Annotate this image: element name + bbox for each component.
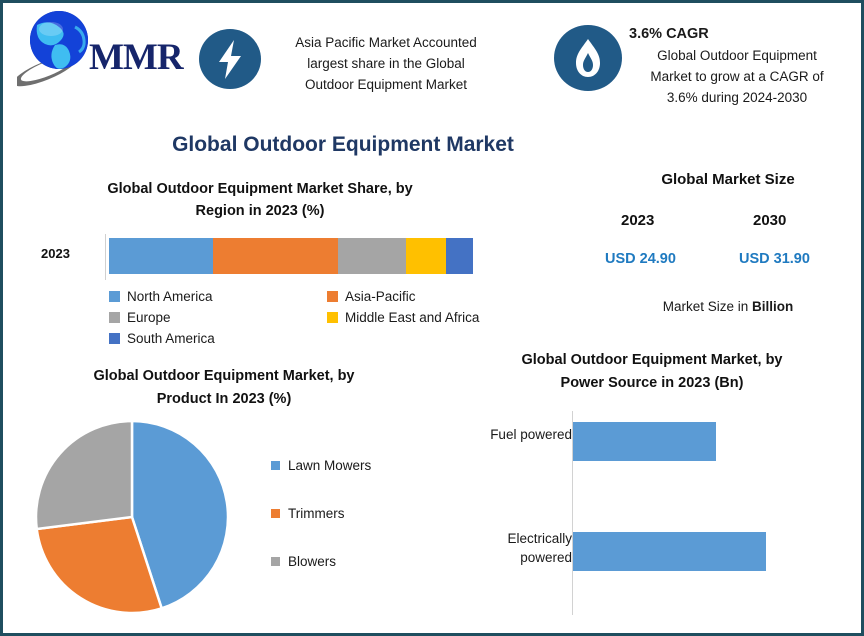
header: MMR Asia Pacific Market Accounted larges…	[3, 3, 861, 115]
header-right-line-3: 3.6% during 2024-2030	[621, 87, 853, 108]
legend-item-south-america: South America	[109, 331, 327, 346]
logo-text: MMR	[89, 36, 183, 79]
stack-segment	[406, 238, 446, 274]
lightning-bolt-icon	[199, 29, 261, 89]
header-right-text: 3.6% CAGR Global Outdoor Equipment Marke…	[621, 24, 853, 108]
legend-swatch-icon	[271, 509, 280, 518]
legend-label: Middle East and Africa	[345, 310, 479, 325]
pie-plot	[32, 417, 232, 617]
market-size-footnote: Market Size in Billion	[599, 299, 857, 314]
legend-swatch-icon	[109, 291, 120, 302]
market-size-value-2030: USD 31.90	[739, 251, 810, 267]
market-size-years: 2023 2030	[599, 212, 857, 234]
market-size-value-2023: USD 24.90	[605, 251, 676, 267]
header-left-line-1: Asia Pacific Market Accounted	[259, 32, 513, 53]
region-legend: North America Asia-Pacific Europe Middle…	[109, 286, 579, 349]
product-legend: Lawn Mowers Trimmers Blowers	[271, 441, 371, 585]
stack-segment	[109, 238, 213, 274]
market-size-footnote-unit: Billion	[752, 299, 793, 314]
region-chart-title: Global Outdoor Equipment Market Share, b…	[25, 178, 495, 222]
infographic-canvas: MMR Asia Pacific Market Accounted larges…	[0, 0, 864, 636]
legend-row: North America Asia-Pacific	[109, 286, 579, 307]
power-chart-plot: Fuel powered Electrically powered	[443, 411, 861, 617]
legend-item-blowers: Blowers	[271, 537, 371, 585]
legend-label: Trimmers	[288, 506, 345, 521]
header-left-line-3: Outdoor Equipment Market	[259, 74, 513, 95]
legend-swatch-icon	[109, 312, 120, 323]
legend-row: South America	[109, 328, 579, 349]
pie-slice	[36, 421, 132, 529]
region-chart-title-line-1: Global Outdoor Equipment Market Share, b…	[25, 178, 495, 200]
region-category-label: 2023	[41, 246, 70, 261]
legend-item-lawn-mowers: Lawn Mowers	[271, 441, 371, 489]
product-share-chart: Global Outdoor Equipment Market, by Prod…	[9, 365, 449, 411]
market-size-year-2030: 2030	[753, 212, 786, 229]
legend-item-north-america: North America	[109, 289, 327, 304]
page-title: Global Outdoor Equipment Market	[3, 133, 683, 157]
market-size-panel: Global Market Size 2023 2030 USD 24.90 U…	[599, 171, 857, 314]
legend-item-middle-east-and-africa: Middle East and Africa	[327, 310, 479, 325]
stack-segment	[213, 238, 339, 274]
region-chart-plot: 2023	[13, 234, 513, 280]
legend-label: South America	[127, 331, 215, 346]
region-axis-line	[105, 234, 106, 280]
power-category-label: Electrically powered	[454, 529, 572, 567]
legend-label: Blowers	[288, 554, 336, 569]
market-size-title: Global Market Size	[599, 171, 857, 188]
legend-label: Lawn Mowers	[288, 458, 371, 473]
power-bar-fuel	[573, 422, 716, 461]
cagr-value: 3.6% CAGR	[621, 24, 853, 45]
product-chart-title-line-2: Product In 2023 (%)	[9, 388, 439, 411]
power-category-label: Fuel powered	[454, 425, 572, 444]
flame-icon	[554, 25, 622, 91]
lightning-bolt-badge	[199, 29, 261, 89]
power-source-chart: Global Outdoor Equipment Market, by Powe…	[443, 349, 861, 395]
power-category-label-line-2: powered	[454, 548, 572, 567]
pie-chart-icon	[32, 417, 232, 617]
legend-label: Asia-Pacific	[345, 289, 416, 304]
mmr-logo: MMR	[17, 9, 197, 91]
legend-item-asia-pacific: Asia-Pacific	[327, 289, 416, 304]
power-chart-title-line-2: Power Source in 2023 (Bn)	[443, 372, 861, 395]
legend-swatch-icon	[327, 312, 338, 323]
region-share-chart: Global Outdoor Equipment Market Share, b…	[13, 178, 533, 349]
legend-item-trimmers: Trimmers	[271, 489, 371, 537]
legend-swatch-icon	[271, 557, 280, 566]
power-chart-title: Global Outdoor Equipment Market, by Powe…	[443, 349, 861, 395]
power-chart-title-line-1: Global Outdoor Equipment Market, by	[443, 349, 861, 372]
stack-segment	[446, 238, 473, 274]
header-left-text: Asia Pacific Market Accounted largest sh…	[259, 32, 513, 95]
flame-badge	[554, 25, 622, 91]
legend-swatch-icon	[327, 291, 338, 302]
market-size-footnote-prefix: Market Size in	[663, 299, 752, 314]
market-size-year-2023: 2023	[621, 212, 654, 229]
legend-item-europe: Europe	[109, 310, 327, 325]
legend-swatch-icon	[271, 461, 280, 470]
region-stacked-bar	[109, 238, 473, 274]
product-chart-title-line-1: Global Outdoor Equipment Market, by	[9, 365, 439, 388]
header-left-line-2: largest share in the Global	[259, 53, 513, 74]
power-category-label-line-1: Electrically	[454, 529, 572, 548]
legend-label: North America	[127, 289, 213, 304]
power-category-label-line-1: Fuel powered	[454, 425, 572, 444]
market-size-values: USD 24.90 USD 31.90	[599, 251, 857, 273]
stack-segment	[338, 238, 405, 274]
header-right-line-2: Market to grow at a CAGR of	[621, 66, 853, 87]
product-chart-title: Global Outdoor Equipment Market, by Prod…	[9, 365, 439, 411]
region-chart-title-line-2: Region in 2023 (%)	[25, 200, 495, 222]
header-right-line-1: Global Outdoor Equipment	[621, 45, 853, 66]
legend-swatch-icon	[109, 333, 120, 344]
legend-row: Europe Middle East and Africa	[109, 307, 579, 328]
legend-label: Europe	[127, 310, 171, 325]
power-bar-electric	[573, 532, 766, 571]
